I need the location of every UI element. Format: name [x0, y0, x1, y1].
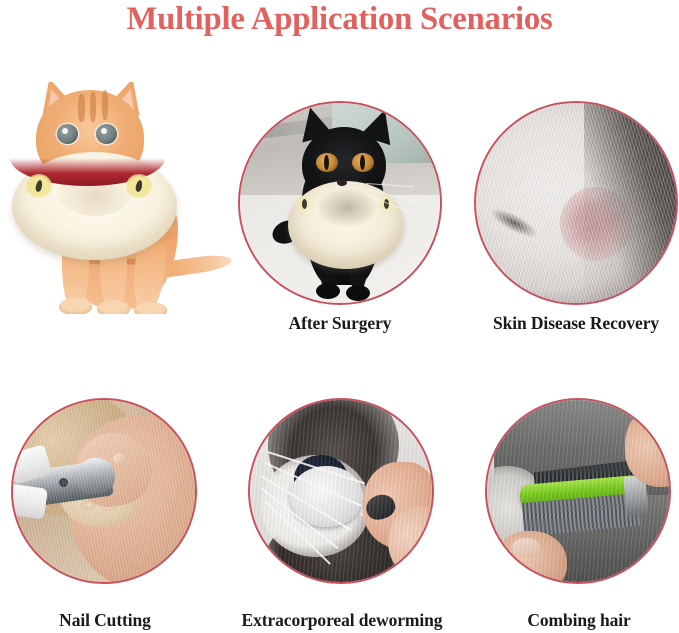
kitten-paw: [134, 302, 167, 314]
kitten-paw: [59, 298, 92, 314]
scenario-image-skin-disease-recovery: [474, 101, 678, 305]
cat-nose: [337, 179, 347, 186]
kitten-eye-right: [96, 124, 117, 144]
kitten-scene: [4, 82, 232, 314]
deworming-scene: [250, 400, 432, 582]
nail-cutting-scene: [13, 400, 195, 582]
kitten-paw: [97, 300, 130, 314]
scenario-image-combing-hair: [485, 398, 671, 584]
scenario-image-hero: [4, 82, 232, 314]
page-title: Multiple Application Scenarios: [3, 1, 675, 38]
scenario-image-nail-cutting: [11, 398, 197, 584]
caption-extracorporeal-deworming: Extracorporeal deworming: [208, 610, 476, 631]
cat-eye-right: [352, 153, 374, 172]
caption-after-surgery: After Surgery: [240, 313, 440, 334]
caption-combing-hair: Combing hair: [486, 610, 672, 631]
cat-paw: [346, 285, 370, 301]
scenario-image-after-surgery: [238, 101, 442, 305]
cat-paw: [316, 283, 340, 299]
scenario-image-extracorporeal-deworming: [248, 398, 434, 584]
caption-skin-disease-recovery: Skin Disease Recovery: [460, 313, 679, 334]
combing-hair-scene: [487, 400, 669, 582]
caption-nail-cutting: Nail Cutting: [10, 610, 200, 631]
black-cat-scene: [240, 103, 440, 303]
collar-seed-detail: [26, 174, 52, 198]
skin-closeup-scene: [476, 103, 676, 303]
cat-eye-left: [316, 153, 338, 172]
clipper-handle: [13, 483, 48, 519]
collar-seed-detail: [126, 174, 152, 198]
collar-seed-detail: [376, 195, 396, 213]
kitten-eye-left: [57, 124, 78, 144]
collar-seed-detail: [294, 195, 314, 213]
